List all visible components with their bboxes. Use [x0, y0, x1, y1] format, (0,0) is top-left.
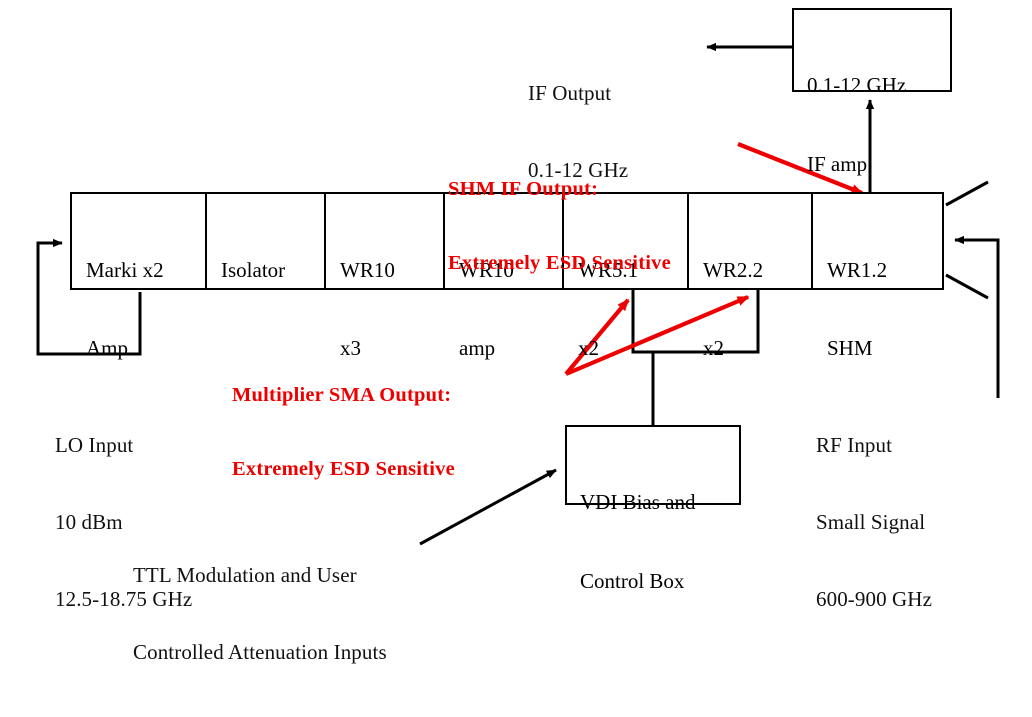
vdi-box-line1: VDI Bias and	[580, 489, 739, 515]
rf-input-line2: Small Signal	[816, 510, 932, 536]
warning-shm-line1: SHM IF Output:	[448, 177, 671, 202]
chain-block-line2: amp	[459, 335, 562, 361]
chain-block-marki-x2-amp[interactable]: Marki x2 Amp	[72, 194, 207, 288]
block-diagram-canvas: Marki x2 Amp Isolator WR10 x3 WR10 amp W…	[0, 0, 1032, 581]
if-amp-box[interactable]: 0.1-12 GHz IF amp	[792, 8, 952, 92]
if-amp-line2: IF amp	[807, 151, 950, 177]
chain-block-wr22-x2[interactable]: WR2.2 x2	[689, 194, 813, 288]
if-amp-line1: 0.1-12 GHz	[807, 72, 950, 98]
vdi-box-line2: Control Box	[580, 568, 739, 594]
chain-block-line2: x2	[578, 335, 687, 361]
vdi-bias-control-box[interactable]: VDI Bias and Control Box	[565, 425, 741, 505]
warning-shm-line2: Extremely ESD Sensitive	[448, 251, 671, 276]
rf-input-line1: RF Input	[816, 433, 932, 459]
ttl-inputs-line2: Controlled Attenuation Inputs	[133, 640, 387, 666]
horn-antenna-icon-lower	[946, 275, 988, 298]
ttl-inputs-line1: TTL Modulation and User	[133, 563, 387, 589]
chain-block-wr10-x3[interactable]: WR10 x3	[326, 194, 445, 288]
warning-sma-line2: Extremely ESD Sensitive	[232, 457, 455, 482]
chain-block-line1: WR2.2	[703, 257, 811, 283]
chain-block-line1: WR1.2	[827, 257, 942, 283]
chain-block-line2: x2	[703, 335, 811, 361]
warning-shm-if-output: SHM IF Output: Extremely ESD Sensitive	[448, 128, 671, 325]
warning-multiplier-sma-output: Multiplier SMA Output: Extremely ESD Sen…	[232, 334, 455, 531]
horn-antenna-icon-upper	[946, 182, 988, 205]
label-ttl-inputs: TTL Modulation and User Controlled Atten…	[133, 512, 387, 717]
if-output-line1: IF Output	[528, 81, 628, 107]
chain-block-line1: Isolator	[221, 257, 324, 283]
wire-rf-input	[955, 240, 998, 398]
lo-input-line1: LO Input	[55, 433, 192, 459]
chain-block-line1: Marki x2	[86, 257, 205, 283]
warning-sma-line1: Multiplier SMA Output:	[232, 383, 455, 408]
chain-block-isolator[interactable]: Isolator	[207, 194, 326, 288]
label-rf-input: RF Input Small Signal 600-900 GHz	[816, 382, 932, 664]
chain-block-line2: SHM	[827, 335, 942, 361]
chain-block-line1: WR10	[340, 257, 443, 283]
rf-input-line3: 600-900 GHz	[816, 587, 932, 613]
chain-block-line2: Amp	[86, 335, 205, 361]
